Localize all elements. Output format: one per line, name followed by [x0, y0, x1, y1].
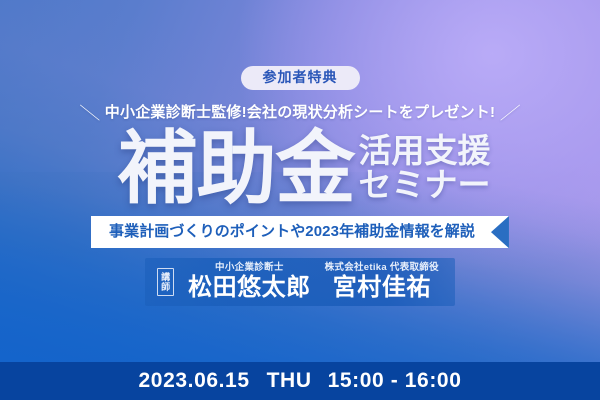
participant-benefit-badge: 参加者特典 [241, 66, 360, 90]
speaker-2: 株式会社etika 代表取締役 宮村佳祐 [325, 263, 439, 300]
date-time-text: 2023.06.15 THU 15:00 - 16:00 [139, 369, 462, 393]
speaker-1: 中小企業診断士 松田悠太郎 [188, 263, 311, 300]
main-title: 補助金 活用支援 セミナー [0, 132, 600, 206]
speaker-2-name: 宮村佳祐 [333, 275, 431, 300]
speaker-band: 講 師 中小企業診断士 松田悠太郎 株式会社etika 代表取締役 宮村佳祐 [145, 258, 455, 306]
speaker-1-name: 松田悠太郎 [188, 275, 311, 300]
instructor-label-box: 講 師 [157, 268, 174, 296]
slash-right-icon: ／ [499, 99, 522, 124]
title-sub-block: 活用支援 セミナー [359, 134, 491, 202]
benefit-subtitle-text: 中小企業診断士監修!会社の現状分析シートをプレゼント! [105, 101, 495, 122]
event-weekday: THU [267, 369, 312, 393]
instructor-label-char-2: 師 [161, 282, 170, 292]
description-ribbon: 事業計画づくりのポイントや2023年補助金情報を解説 [91, 216, 509, 248]
title-sub-line-1: 活用支援 [359, 134, 491, 168]
title-main-text: 補助金 [118, 132, 355, 206]
speaker-1-title: 中小企業診断士 [215, 263, 284, 273]
seminar-banner: 参加者特典 ＼ 中小企業診断士監修!会社の現状分析シートをプレゼント! ／ 補助… [0, 0, 600, 400]
benefit-subtitle: ＼ 中小企業診断士監修!会社の現状分析シートをプレゼント! ／ [81, 99, 520, 124]
event-date: 2023.06.15 [139, 369, 250, 393]
date-time-bar: 2023.06.15 THU 15:00 - 16:00 [0, 362, 600, 400]
title-sub-line-2: セミナー [359, 168, 491, 202]
speaker-2-title: 株式会社etika 代表取締役 [325, 263, 439, 273]
ribbon-notch-icon [491, 216, 509, 248]
description-ribbon-wrap: 事業計画づくりのポイントや2023年補助金情報を解説 [0, 216, 600, 248]
slash-left-icon: ＼ [77, 99, 100, 124]
description-ribbon-text: 事業計画づくりのポイントや2023年補助金情報を解説 [109, 223, 475, 240]
instructor-label-char-1: 講 [161, 272, 170, 282]
banner-content: 参加者特典 ＼ 中小企業診断士監修!会社の現状分析シートをプレゼント! ／ 補助… [0, 0, 600, 400]
event-time: 15:00 - 16:00 [328, 369, 462, 393]
